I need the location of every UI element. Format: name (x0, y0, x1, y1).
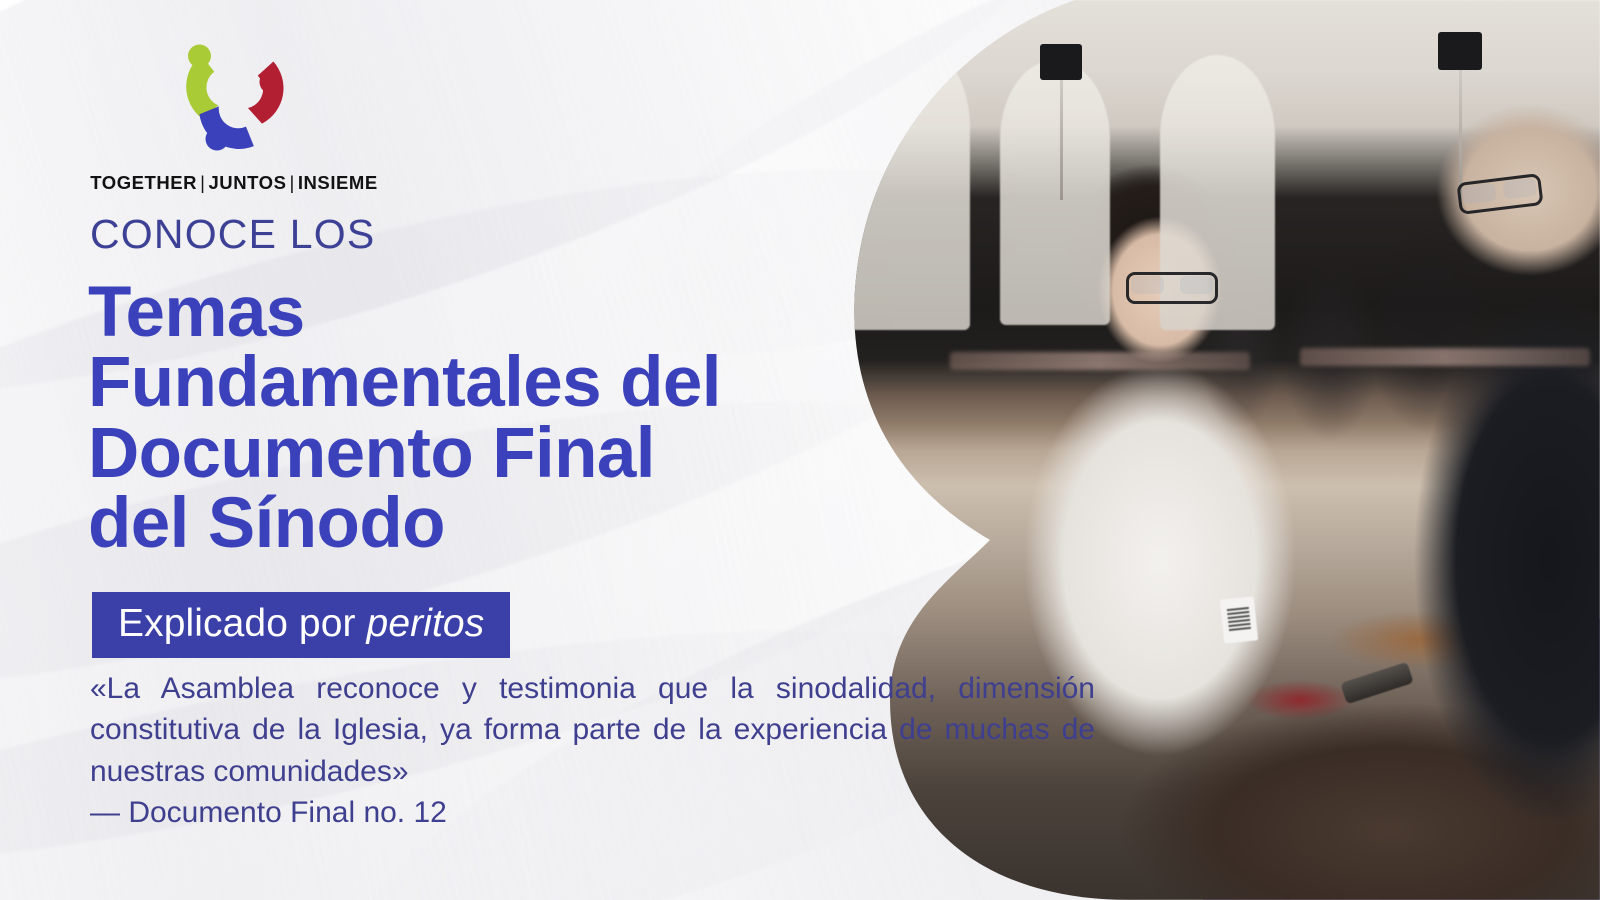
poster-content: TOGETHER|JUNTOS|INSIEME CONOCE LOS Temas… (88, 0, 1098, 900)
quote-attribution: — Documento Final no. 12 (90, 792, 1095, 833)
badge-label: Explicado por (118, 602, 367, 645)
wordmark-juntos: JUNTOS (208, 172, 286, 193)
ceiling-speaker-icon (1438, 32, 1482, 70)
quote-block: «La Asamblea reconoce y testimonia que l… (90, 668, 1095, 834)
synod-promo-poster: TOGETHER|JUNTOS|INSIEME CONOCE LOS Temas… (0, 0, 1600, 900)
brand-logo: TOGETHER|JUNTOS|INSIEME (88, 38, 380, 194)
wordmark-insieme: INSIEME (298, 172, 378, 193)
badge-label-emphasis: peritos (367, 602, 485, 645)
wordmark-separator: | (197, 172, 208, 193)
headline-line-2: Fundamentales del (88, 348, 721, 418)
conference-badge (1220, 596, 1258, 643)
headline-line-4: del Sínodo (88, 489, 721, 559)
eyeglasses-icon (1126, 272, 1218, 304)
status-badge: Explicado por peritos (92, 592, 510, 658)
synod-logo-icon (174, 38, 294, 156)
speaker-pole (1459, 70, 1462, 200)
kicker-text: CONOCE LOS (90, 214, 375, 255)
wordmark-together: TOGETHER (90, 172, 197, 193)
page-title: Temas Fundamentales del Documento Final … (88, 278, 721, 559)
brand-wordmark: TOGETHER|JUNTOS|INSIEME (88, 172, 380, 194)
headline-line-3: Documento Final (88, 419, 721, 489)
headline-line-1: Temas (88, 278, 721, 348)
audience-seat-row (1300, 348, 1590, 366)
wordmark-separator: | (286, 172, 297, 193)
quote-text: «La Asamblea reconoce y testimonia que l… (90, 672, 1095, 788)
